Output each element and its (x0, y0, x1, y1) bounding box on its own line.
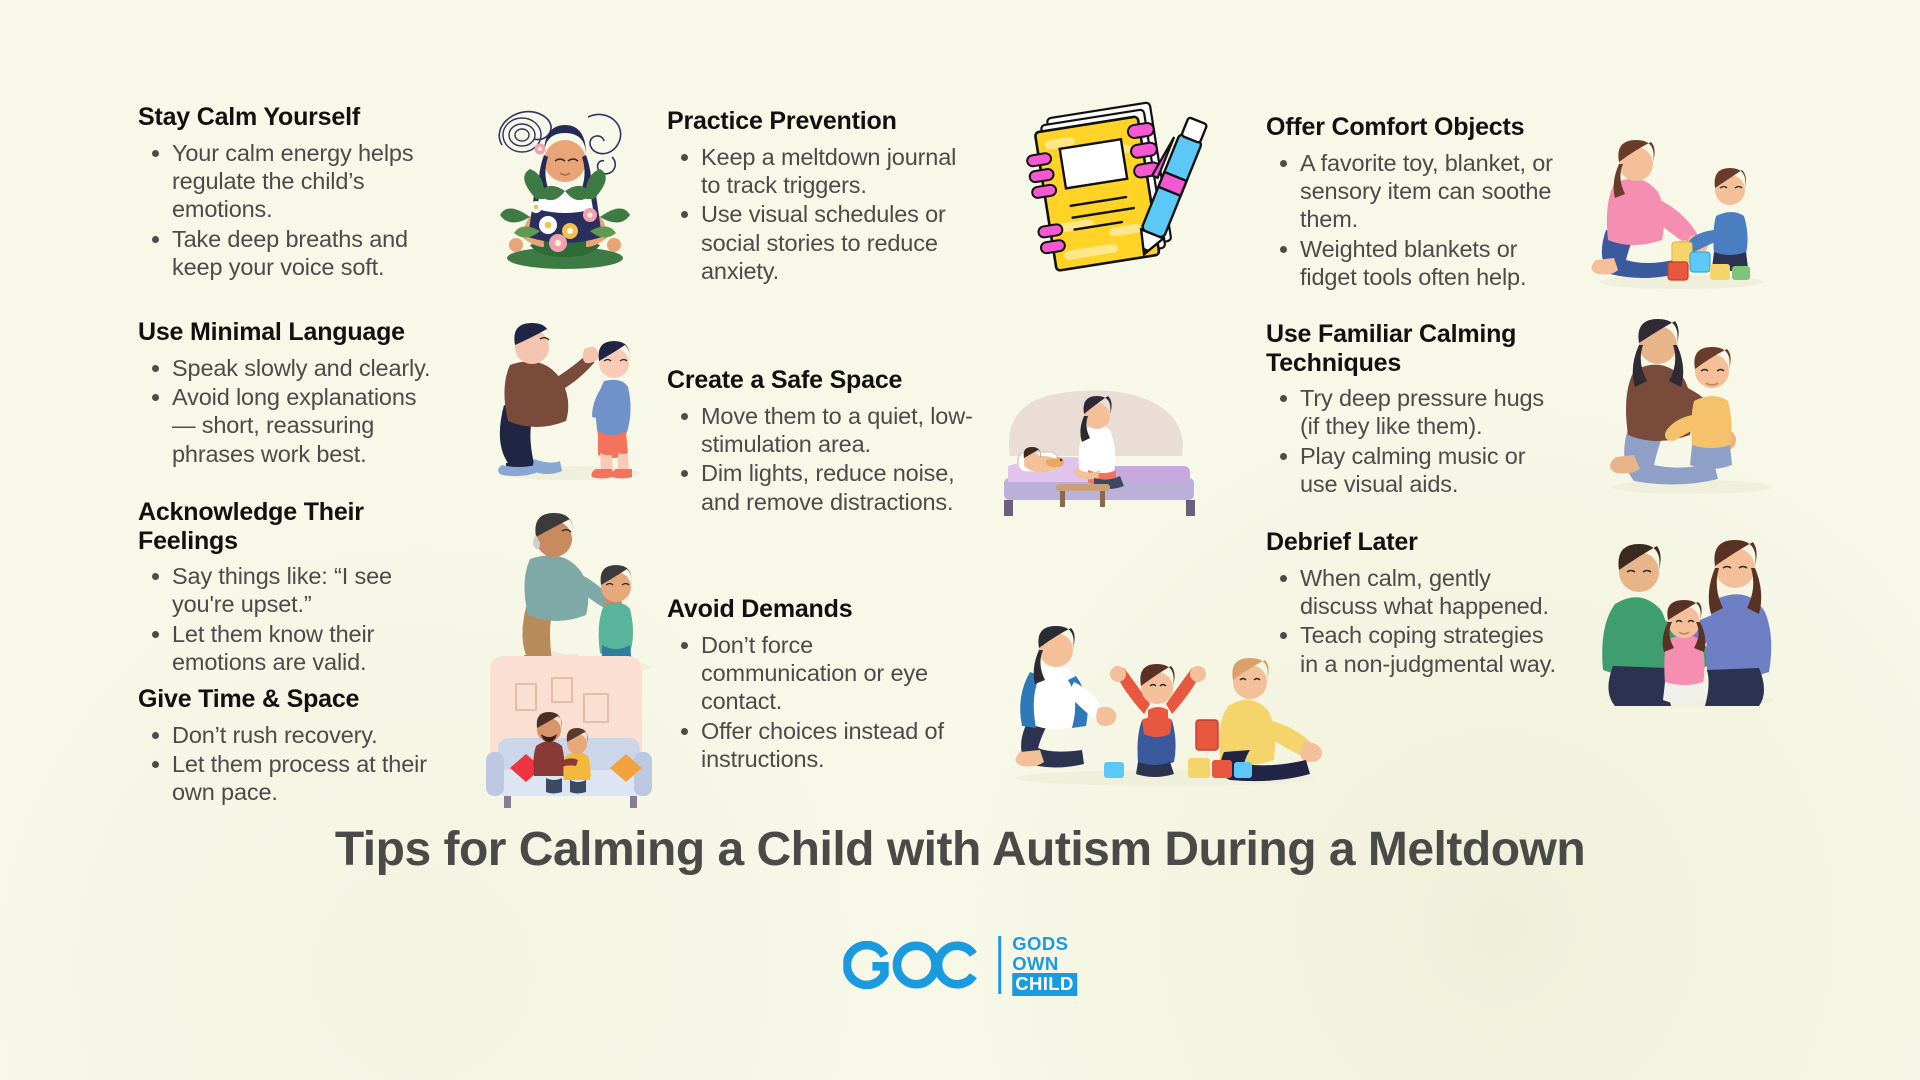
tip-bullets: Move them to a quiet, low-stimulation ar… (667, 402, 987, 517)
tip-title: Use Minimal Language (138, 318, 438, 347)
tip-title: Use Familiar Calming Techniques (1266, 320, 1566, 377)
logo-line-3: CHILD (1012, 973, 1077, 996)
tip-title: Create a Safe Space (667, 366, 987, 395)
tip-bullets: A favorite toy, blanket, or sensory item… (1266, 149, 1566, 292)
logo-line-2: OWN (1012, 954, 1077, 974)
list-item: A favorite toy, blanket, or sensory item… (1300, 149, 1566, 234)
list-item: Weighted blankets or fidget tools often … (1300, 235, 1566, 292)
tip-avoid-demands: Avoid Demands Don’t force communication … (667, 595, 947, 775)
tip-debrief-later: Debrief Later When calm, gently discuss … (1266, 528, 1566, 679)
list-item: Your calm energy helps regulate the chil… (172, 139, 458, 224)
list-item: Play calming music or use visual aids. (1300, 442, 1566, 499)
tip-bullets: Keep a meltdown journal to track trigger… (667, 143, 977, 286)
tip-title: Avoid Demands (667, 595, 947, 624)
list-item: Move them to a quiet, low-stimulation ar… (701, 402, 987, 459)
tip-use-familiar-calming-techniques: Use Familiar Calming Techniques Try deep… (1266, 320, 1566, 500)
tip-offer-comfort-objects: Offer Comfort Objects A favorite toy, bl… (1266, 113, 1566, 293)
adult-kneeling-talking-to-child-illustration (480, 305, 660, 485)
tip-title: Give Time & Space (138, 685, 438, 714)
page-title: Tips for Calming a Child with Autism Dur… (0, 822, 1920, 877)
list-item: Say things like: “I see you're upset.” (172, 562, 448, 619)
list-item: Don’t force communication or eye contact… (701, 631, 947, 716)
tip-give-time-and-space: Give Time & Space Don’t rush recovery. L… (138, 685, 438, 808)
list-item: Offer choices instead of instructions. (701, 717, 947, 774)
tip-bullets: Try deep pressure hugs (if they like the… (1266, 384, 1566, 499)
tip-practice-prevention: Practice Prevention Keep a meltdown jour… (667, 107, 977, 287)
tip-title: Practice Prevention (667, 107, 977, 136)
grandparent-comforting-child-illustration (500, 495, 670, 675)
list-item: Keep a meltdown journal to track trigger… (701, 143, 977, 200)
mother-and-toddler-with-blocks-illustration (1590, 130, 1775, 290)
parent-at-childs-bedside-illustration (1000, 370, 1200, 520)
list-item: Dim lights, reduce noise, and remove dis… (701, 459, 987, 516)
mother-hugging-child-illustration (1600, 305, 1785, 495)
family-group-hug-illustration (1595, 518, 1785, 708)
tip-title: Acknowledge Their Feelings (138, 498, 448, 555)
tip-stay-calm-yourself: Stay Calm Yourself Your calm energy help… (138, 103, 458, 283)
list-item: Avoid long explanations — short, reassur… (172, 383, 438, 468)
tip-bullets: When calm, gently discuss what happened.… (1266, 564, 1566, 679)
notebook-and-pen-illustration (1018, 95, 1208, 275)
tip-bullets: Say things like: “I see you're upset.” L… (138, 562, 448, 677)
goc-monogram-icon (843, 941, 989, 989)
list-item: Let them process at their own pace. (172, 750, 438, 807)
logo-wordmark: GODS OWN CHILD (998, 936, 1077, 994)
list-item: Let them know their emotions are valid. (172, 620, 448, 677)
tip-bullets: Your calm energy helps regulate the chil… (138, 139, 458, 282)
goc-logo: GODS OWN CHILD (843, 936, 1077, 994)
tip-acknowledge-their-feelings: Acknowledge Their Feelings Say things li… (138, 498, 448, 678)
list-item: Take deep breaths and keep your voice so… (172, 225, 458, 282)
tip-bullets: Speak slowly and clearly. Avoid long exp… (138, 354, 438, 469)
tip-bullets: Don’t force communication or eye contact… (667, 631, 947, 774)
list-item: Try deep pressure hugs (if they like the… (1300, 384, 1566, 441)
tip-bullets: Don’t rush recovery. Let them process at… (138, 721, 438, 807)
list-item: Don’t rush recovery. (172, 721, 438, 749)
logo-line-1: GODS (1012, 934, 1077, 954)
list-item: Speak slowly and clearly. (172, 354, 438, 382)
list-item: Teach coping strategies in a non-judgmen… (1300, 621, 1566, 678)
tip-title: Offer Comfort Objects (1266, 113, 1566, 142)
tip-title: Debrief Later (1266, 528, 1566, 557)
tip-create-a-safe-space: Create a Safe Space Move them to a quiet… (667, 366, 987, 517)
meditating-woman-with-flowers-illustration (470, 95, 660, 275)
tip-use-minimal-language: Use Minimal Language Speak slowly and cl… (138, 318, 438, 469)
tip-title: Stay Calm Yourself (138, 103, 458, 132)
family-sitting-on-sofa-illustration (480, 650, 670, 820)
list-item: Use visual schedules or social stories t… (701, 200, 977, 285)
list-item: When calm, gently discuss what happened. (1300, 564, 1566, 621)
infographic-poster: Stay Calm Yourself Your calm energy help… (0, 0, 1920, 1080)
